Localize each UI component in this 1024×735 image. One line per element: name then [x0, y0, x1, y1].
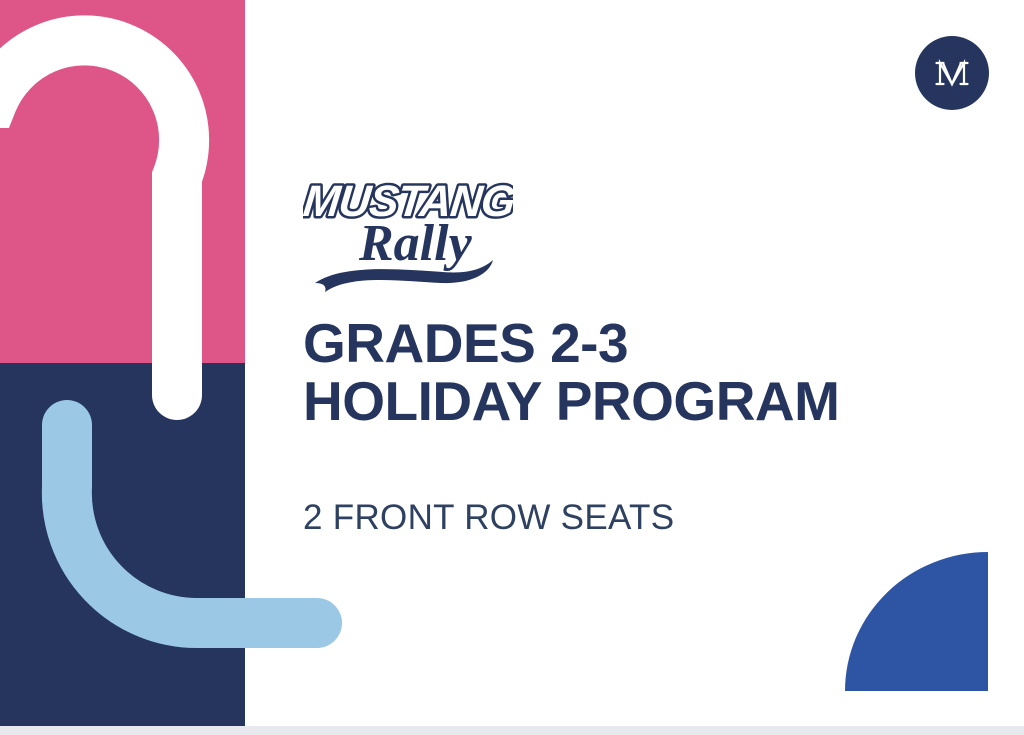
- m-monogram-icon: [930, 51, 974, 95]
- logo-rally-text: Rally: [358, 215, 473, 272]
- screenshot-stage: MUSTANG Rally GRADES 2-3 HOLIDAY PROGRAM…: [0, 0, 1024, 735]
- brand-badge: [915, 36, 989, 110]
- navy-band: [0, 363, 245, 726]
- headline-line-1: GRADES 2-3: [303, 314, 983, 372]
- mustang-rally-logo: MUSTANG Rally: [303, 168, 513, 293]
- logo-wordmark-rally: Rally: [358, 215, 473, 272]
- pink-band: [0, 0, 245, 363]
- page-bottom-strip: [0, 726, 1024, 735]
- decorative-left-column: [0, 0, 245, 726]
- page-title: GRADES 2-3 HOLIDAY PROGRAM: [303, 314, 983, 431]
- headline-line-2: HOLIDAY PROGRAM: [303, 372, 983, 430]
- promo-card: MUSTANG Rally GRADES 2-3 HOLIDAY PROGRAM…: [0, 0, 1024, 726]
- blue-quarter-circle-shape: [845, 552, 988, 691]
- subtitle: 2 FRONT ROW SEATS: [303, 498, 674, 538]
